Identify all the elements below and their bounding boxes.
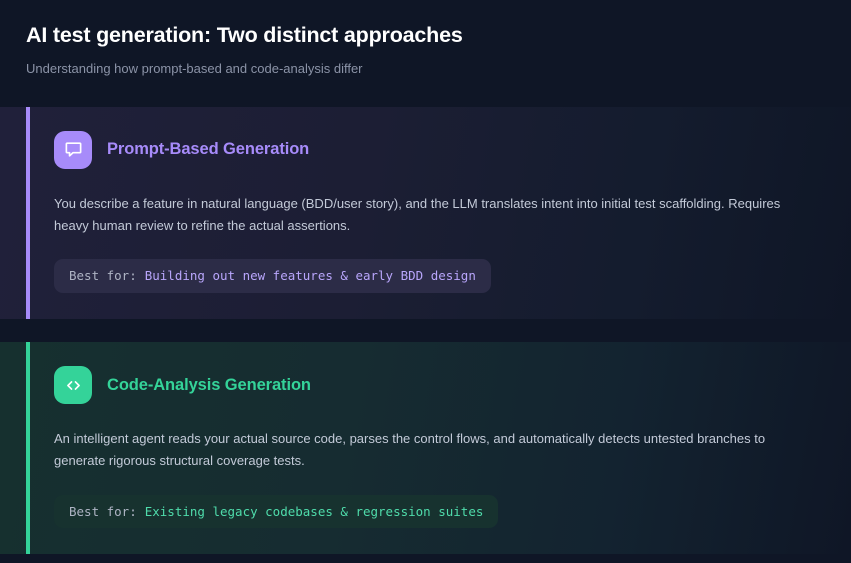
- best-for-label: Best for:: [69, 268, 137, 284]
- best-for-label: Best for:: [69, 504, 137, 520]
- approach-card-prompt-based[interactable]: Prompt-Based Generation You describe a f…: [0, 107, 851, 319]
- best-for-badge-prompt-based: Best for: Building out new features & ea…: [54, 259, 491, 293]
- card-header-code-analysis: Code-Analysis Generation: [54, 366, 825, 404]
- approach-card-code-analysis[interactable]: Code-Analysis Generation An intelligent …: [0, 342, 851, 554]
- card-accent-bar-purple: [26, 107, 30, 319]
- code-brackets-icon: [54, 366, 92, 404]
- chat-bubble-icon: [54, 131, 92, 169]
- card-accent-bar-green: [26, 342, 30, 554]
- best-for-value: Building out new features & early BDD de…: [145, 268, 476, 284]
- best-for-value: Existing legacy codebases & regression s…: [145, 504, 484, 520]
- page-title: AI test generation: Two distinct approac…: [26, 22, 825, 49]
- approach-card-list: Prompt-Based Generation You describe a f…: [0, 107, 851, 555]
- card-body-code-analysis: An intelligent agent reads your actual s…: [54, 428, 814, 473]
- card-body-prompt-based: You describe a feature in natural langua…: [54, 193, 814, 238]
- card-header-prompt-based: Prompt-Based Generation: [54, 131, 825, 169]
- best-for-badge-code-analysis: Best for: Existing legacy codebases & re…: [54, 495, 498, 529]
- card-title-code-analysis: Code-Analysis Generation: [107, 376, 311, 395]
- page-root: AI test generation: Two distinct approac…: [0, 0, 851, 563]
- card-title-prompt-based: Prompt-Based Generation: [107, 140, 309, 159]
- page-subtitle: Understanding how prompt-based and code-…: [26, 61, 825, 78]
- page-header: AI test generation: Two distinct approac…: [0, 0, 851, 78]
